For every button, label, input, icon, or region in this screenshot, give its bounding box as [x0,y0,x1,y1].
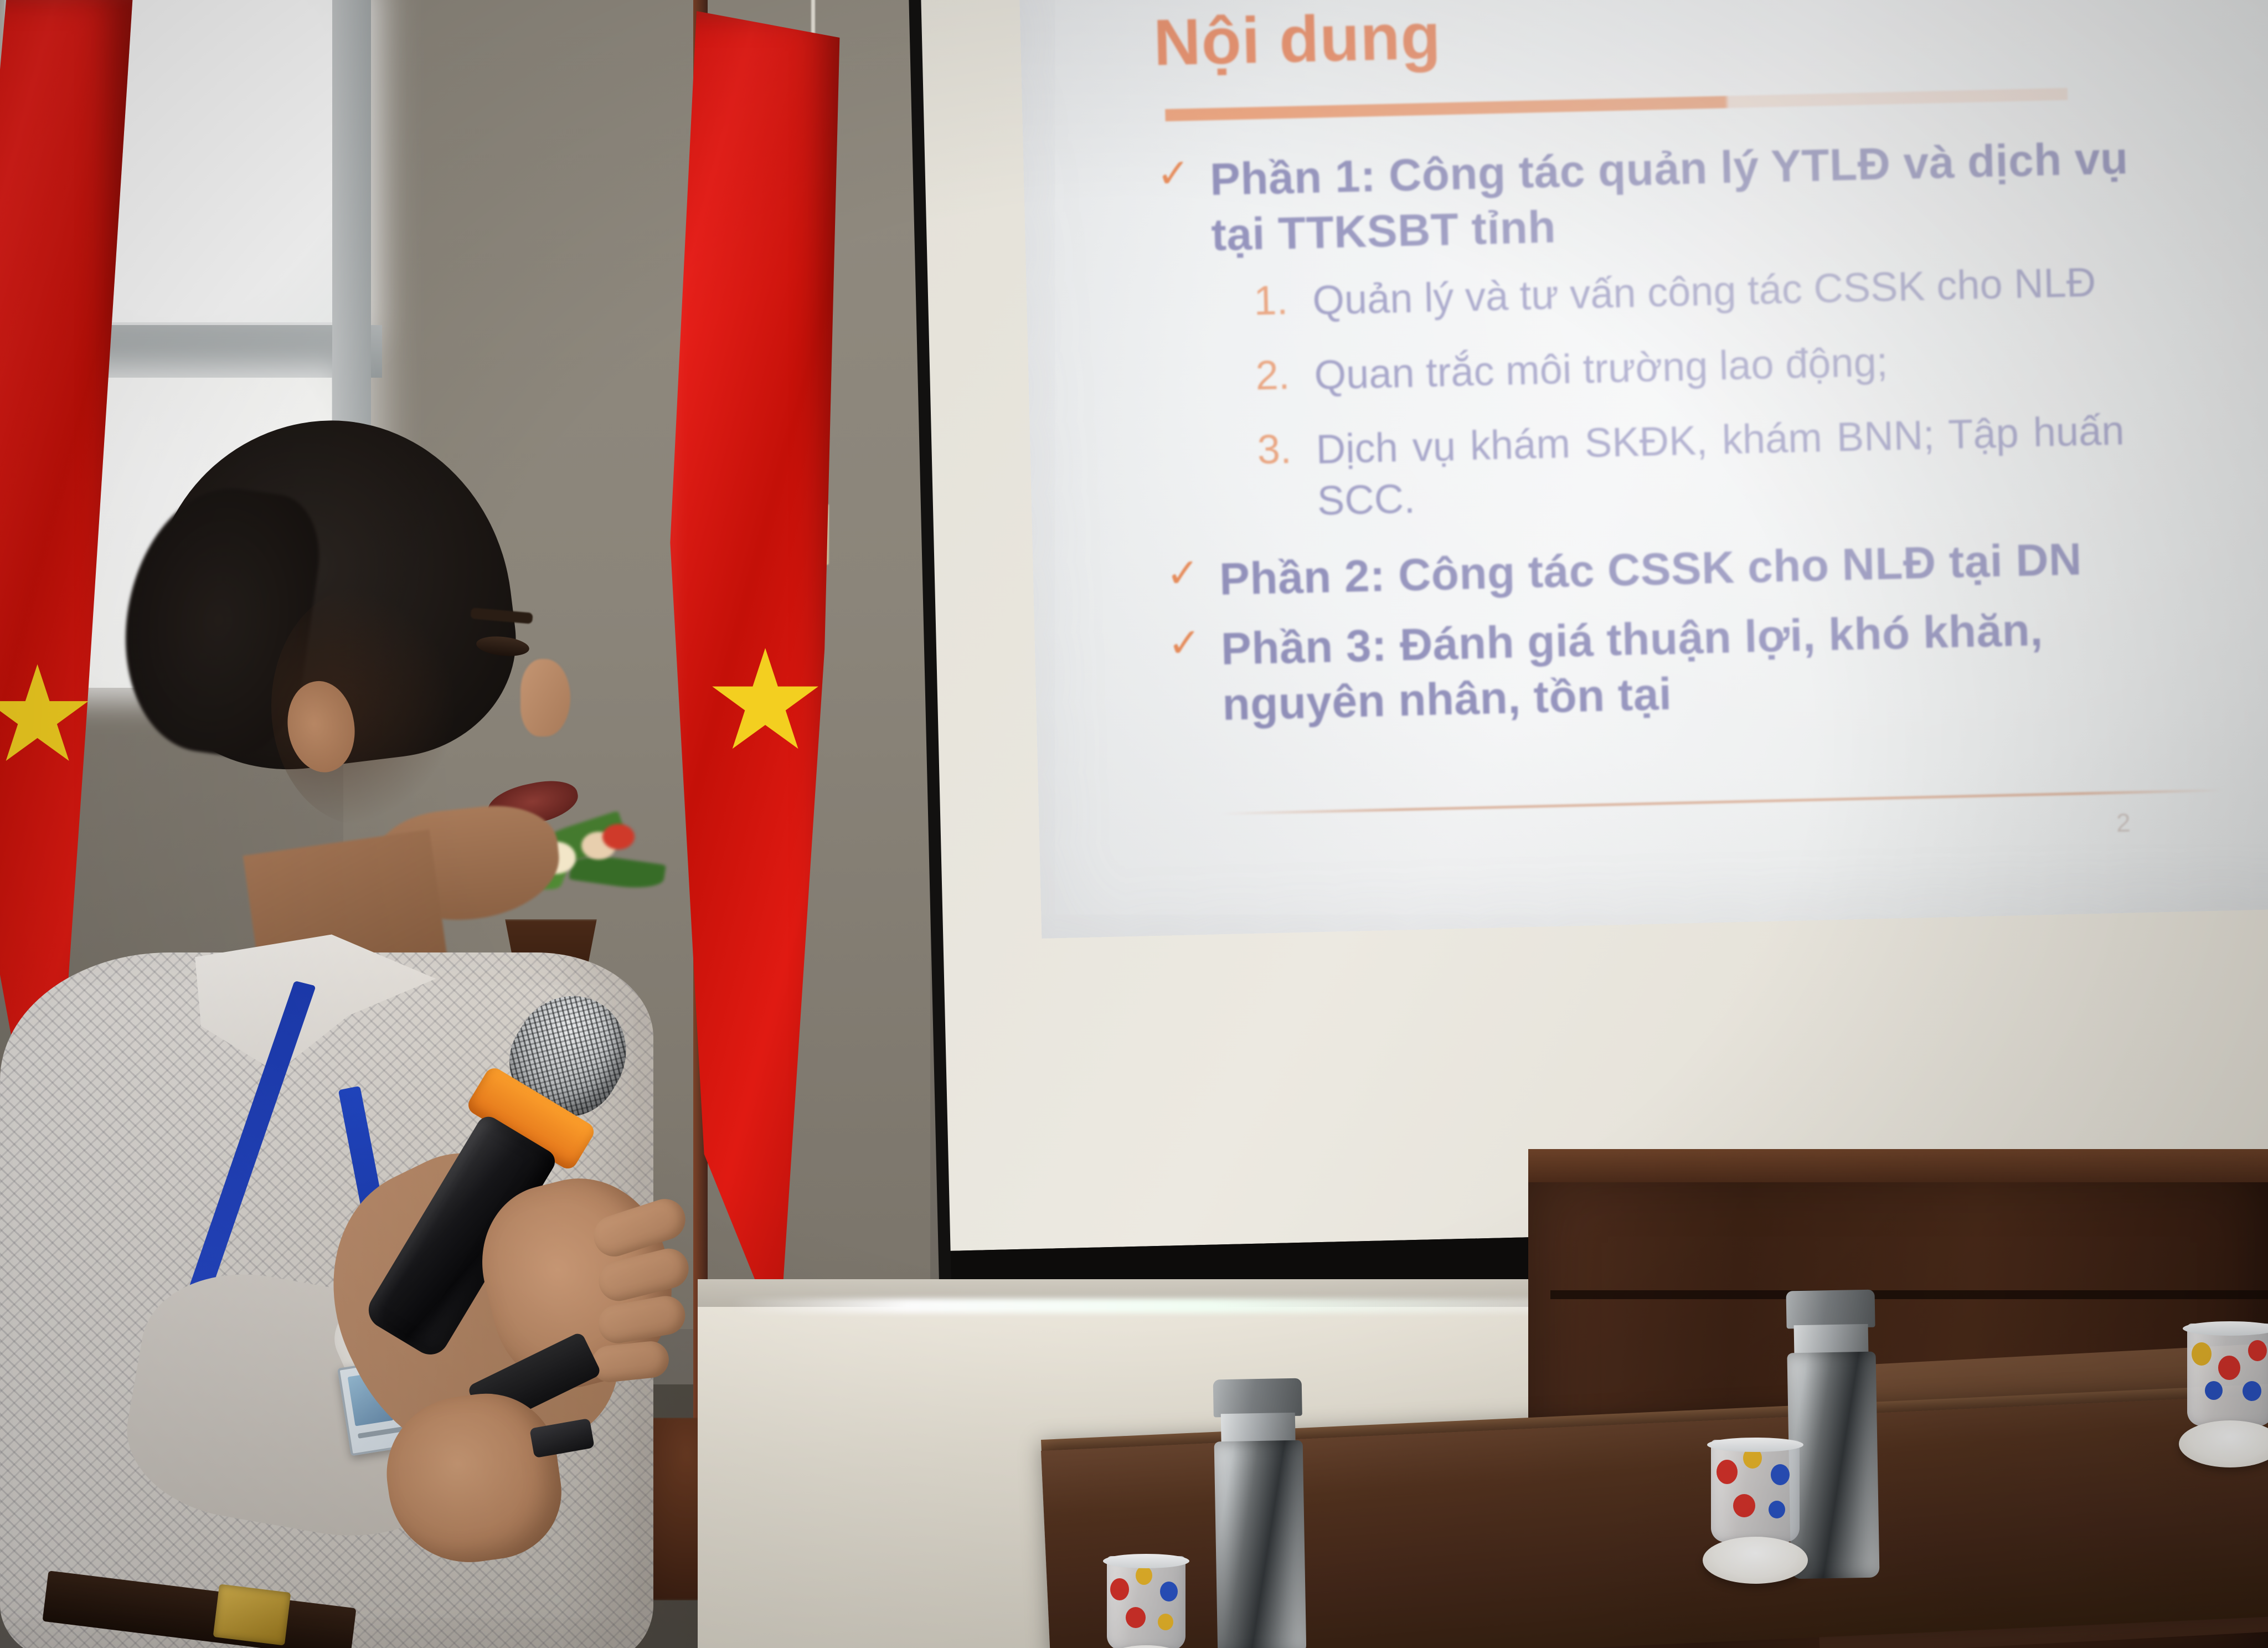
check-icon: ✓ [1156,152,1210,195]
bottle-cap [1786,1290,1875,1329]
polka-dot-glass-right [2179,1323,2268,1462]
polka-dot-glass-center [1703,1440,1808,1578]
sub-item: 3. Dịch vụ khám SKĐK, khám BNN; Tập huấn… [1257,402,2267,528]
glass-dot [2205,1381,2223,1400]
glass-dot [1717,1460,1738,1484]
slide-bullet-list: ✓ Phần 1: Công tác quản lý YTLĐ và dịch … [1156,128,2268,734]
sub-item-number: 1. [1253,275,1313,326]
bottle-cap [1213,1378,1302,1418]
bullet-text: Phần 2: Công tác CSSK cho NLĐ tại DN [1219,532,2083,607]
sub-item-number: 2. [1255,349,1315,400]
check-icon: ✓ [1166,552,1220,595]
glass-dot [1769,1501,1785,1518]
glass-dot [1771,1464,1790,1485]
glass-body [2187,1323,2268,1426]
slide-title: Nội dung [1153,0,2256,81]
belt-buckle [213,1584,291,1645]
sub-item: 2. Quan trắc môi trường lao động; [1255,327,2264,402]
bullet-row: ✓ Phần 2: Công tác CSSK cho NLĐ tại DN [1166,528,2268,609]
glass-dot [1110,1578,1129,1600]
title-underline-rule [1165,88,2068,121]
check-icon: ✓ [1167,622,1221,665]
podium-top-surface [1528,1149,2268,1182]
sub-item: 1. Quản lý và tư vấn công tác CSSK cho N… [1253,253,2262,328]
bullet-row: ✓ Phần 3: Đánh giá thuận lợi, khó khăn, … [1167,598,2268,734]
sub-item-list: 1. Quản lý và tư vấn công tác CSSK cho N… [1253,253,2266,528]
glass-rim [1707,1438,1804,1452]
bottle-body [1214,1440,1307,1648]
glass-dot [2243,1381,2261,1401]
polka-dot-glass-left [1099,1556,1193,1648]
projection-screen: Nội dung ✓ Phần 1: Công tác quản lý YTLĐ… [908,0,2268,1306]
glass-dot [1733,1494,1755,1517]
sub-item-number: 3. [1257,424,1317,475]
slide-footer-rule [1221,789,2224,815]
glass-dot [2192,1342,2212,1366]
glass-dot [2218,1356,2240,1380]
glass-dot [1158,1614,1173,1630]
sub-item-text: Dịch vụ khám SKĐK, khám BNN; Tập huấn SC… [1316,405,2126,527]
sub-item-text: Quản lý và tư vấn công tác CSSK cho NLĐ [1312,257,2096,327]
glass-dot [1126,1607,1146,1628]
speaker-person [33,421,819,1648]
podium-groove [1550,1290,2268,1299]
sub-item-text: Quan trắc môi trường lao động; [1313,336,1888,401]
glass-rim [2183,1321,2268,1336]
slide-page-number: 2 [2116,807,2131,838]
floor-light-reflection [731,1299,1534,1313]
thermos-bottle-left [1213,1378,1307,1648]
glass-body [1711,1440,1800,1542]
bullet-text: Phần 3: Đánh giá thuận lợi, khó khăn, ng… [1220,600,2153,733]
presentation-slide: Nội dung ✓ Phần 1: Công tác quản lý YTLĐ… [1018,0,2268,939]
glass-dot [2248,1340,2267,1361]
glass-dot [1136,1566,1152,1585]
nose [520,659,570,737]
bullet-row: ✓ Phần 1: Công tác quản lý YTLĐ và dịch … [1156,128,2260,265]
saucer [2179,1420,2268,1467]
conference-room-photo: ★ ★ Nội dung ✓ Phần 1: Công tác quản lý [0,0,2268,1648]
glass-rim [1103,1554,1189,1568]
glass-dot [1160,1582,1178,1601]
glass-body [1107,1556,1186,1648]
saucer [1703,1537,1808,1584]
bullet-text: Phần 1: Công tác quản lý YTLĐ và dịch vụ… [1209,131,2142,264]
